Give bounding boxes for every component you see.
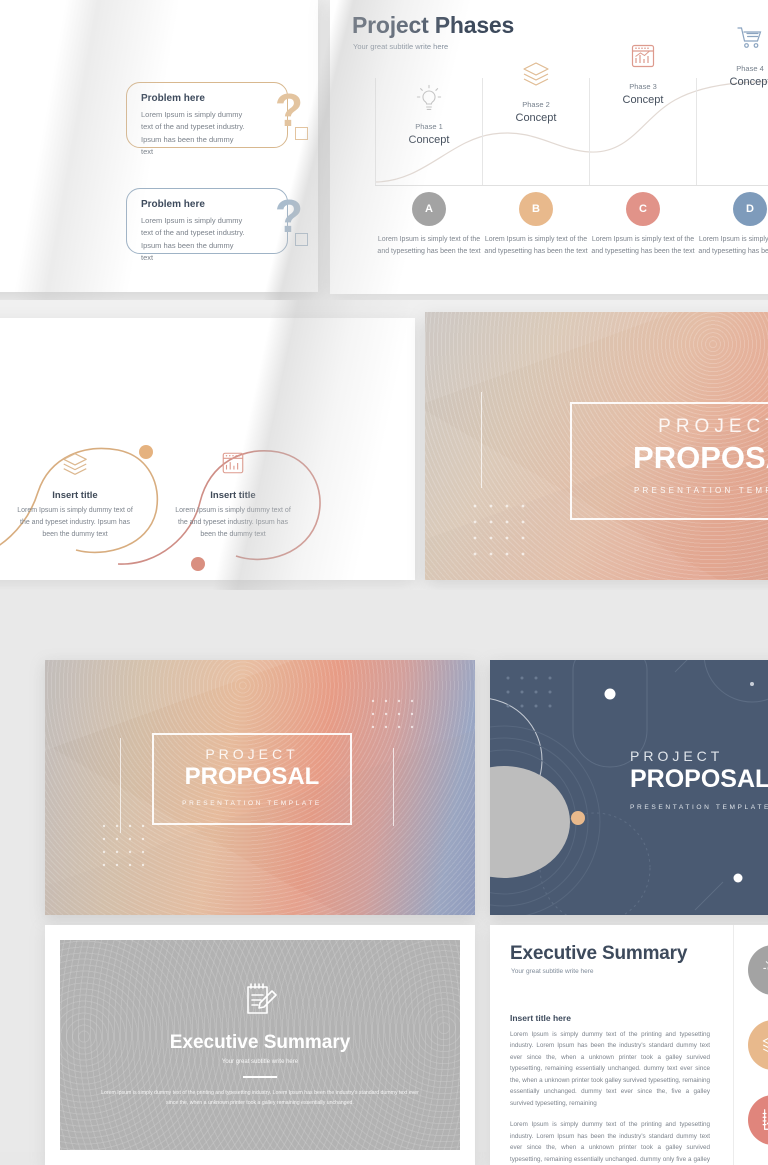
exec-light-rail-divider (733, 925, 734, 1165)
cover-accent-bar (481, 392, 482, 488)
slide-solution[interactable]: tion (0, 318, 415, 580)
question-mark-box-icon (295, 233, 308, 246)
exec-light-subtitle: Your great subtitle write here (511, 968, 594, 975)
problem-callout-1-body: Lorem Ipsum is simply dummy text of the … (141, 109, 247, 159)
phase-column-3[interactable]: Phase 3 Concept (589, 38, 697, 106)
exec-light-section-heading: Insert title here (510, 1013, 710, 1023)
cover-navy-textblock: PROJECT PROPOSAL PRESENTATION TEMPLATE (630, 748, 768, 811)
exec-light-title: Executive Summary (510, 943, 687, 965)
exec-gray-ring-texture (60, 940, 460, 1150)
exec-gray-panel: Executive Summary Your great subtitle wr… (60, 940, 460, 1150)
solution-step-2-title: Insert title (0, 490, 150, 501)
marker-d-badge: D (733, 192, 767, 226)
phase-4-name: Phase 4 (696, 64, 768, 73)
navy-dot-accent (571, 811, 585, 825)
phase-column-4[interactable]: Phase 4 Concept (696, 20, 768, 88)
cover-navy-line1: PROJECT (630, 748, 768, 764)
slide-exec-summary-light[interactable]: Executive Summary Your great subtitle wr… (490, 925, 768, 1165)
phase-4-concept: Concept (696, 76, 768, 88)
marker-a-badge: A (412, 192, 446, 226)
marker-c-badge: C (626, 192, 660, 226)
layers-icon (482, 60, 590, 100)
problem-callout-1-heading: Problem here (141, 93, 247, 104)
problem-callout-2-body: Lorem Ipsum is simply dummy text of the … (141, 215, 247, 265)
slide-project-phases[interactable]: Project Phases Your great subtitle write… (330, 0, 768, 294)
rail-chart-line-icon[interactable] (748, 1095, 768, 1145)
phase-2-concept: Concept (482, 112, 590, 124)
phase-1-concept: Concept (375, 134, 483, 146)
phase-1-name: Phase 1 (375, 122, 483, 131)
cover-navy-line3: PRESENTATION TEMPLATE (630, 804, 768, 811)
shopping-cart-icon (696, 24, 768, 64)
exec-light-paragraph-1: Lorem Ipsum is simply dummy text of the … (510, 1029, 710, 1109)
cover-accent-bar-right (393, 748, 394, 826)
phase-2-name: Phase 2 (482, 100, 590, 109)
cover-beige-line3: PRESENTATION TEMPLATE (572, 486, 768, 495)
chart-window-icon (589, 42, 697, 82)
layers-icon (0, 450, 150, 490)
rail-lightbulb-icon[interactable] (748, 945, 768, 995)
top-slide-band: m ! 01 02 03 04 Problem here Lorem Ipsum… (0, 0, 768, 300)
question-mark-icon: ? (275, 87, 303, 133)
cover-dot-grid-top (370, 698, 416, 738)
cover-navy-line2: PROPOSAL (630, 765, 768, 794)
phase-marker-a[interactable]: A Lorem Ipsum is simply text of the and … (375, 192, 483, 259)
notepad-pencil-icon (60, 980, 460, 1025)
cover-dot-grid (471, 502, 531, 560)
problem-callout-2-heading: Problem here (141, 199, 247, 210)
marker-c-caption: Lorem Ipsum is simply text of the and ty… (589, 234, 697, 259)
chart-window-icon (158, 450, 308, 490)
cover-gradient-line3: PRESENTATION TEMPLATE (154, 800, 350, 807)
lightbulb-icon (375, 82, 483, 122)
rail-layers-icon[interactable] (748, 1020, 768, 1070)
phases-title: Project Phases (352, 12, 514, 39)
slide-exec-summary-gray[interactable]: Executive Summary Your great subtitle wr… (45, 925, 475, 1165)
phase-3-concept: Concept (589, 94, 697, 106)
phase-marker-d[interactable]: D Lorem Ipsum is simply text of the and … (696, 192, 768, 259)
marker-d-caption: Lorem Ipsum is simply text of the and ty… (696, 234, 768, 259)
question-mark-icon: ? (275, 193, 303, 239)
marker-a-caption: Lorem Ipsum is simply text of the and ty… (375, 234, 483, 259)
question-mark-box-icon (295, 127, 308, 140)
cover-dot-grid-bottom (101, 823, 147, 875)
phase-column-2[interactable]: Phase 2 Concept (482, 56, 590, 124)
solution-step-3-body: Lorem Ipsum is simply dummy text of the … (158, 505, 308, 541)
phase-marker-b[interactable]: B Lorem Ipsum is simply text of the and … (482, 192, 590, 259)
cover-gradient-line1: PROJECT (154, 746, 350, 762)
slide-cover-gradient[interactable]: PROJECT PROPOSAL PRESENTATION TEMPLATE (45, 660, 475, 915)
flow-node-4 (191, 557, 205, 571)
cover-accent-bar-left (120, 738, 121, 833)
solution-step-3[interactable]: Insert title Lorem Ipsum is simply dummy… (158, 450, 308, 541)
exec-light-body: Insert title here Lorem Ipsum is simply … (510, 1013, 710, 1165)
solution-step-3-title: Insert title (158, 490, 308, 501)
cover-beige-line2: PROPOSAL (572, 440, 768, 476)
phase-column-1[interactable]: Phase 1 Concept (375, 78, 483, 146)
marker-b-badge: B (519, 192, 553, 226)
problem-callout-2[interactable]: Problem here Lorem Ipsum is simply dummy… (126, 188, 288, 254)
solution-step-2-body: Lorem Ipsum is simply dummy text of the … (0, 505, 150, 541)
solution-step-2[interactable]: Insert title Lorem Ipsum is simply dummy… (0, 450, 150, 541)
problem-callout-1[interactable]: Problem here Lorem Ipsum is simply dummy… (126, 82, 288, 148)
cover-beige-line1: PROJECT (572, 416, 768, 438)
solution-flow-diagram: Insert title Lorem Ipsum is simply dummy… (0, 406, 415, 576)
marker-b-caption: Lorem Ipsum is simply text of the and ty… (482, 234, 590, 259)
cover-gradient-line2: PROPOSAL (154, 763, 350, 791)
slide-cover-beige[interactable]: PROJECT PROPOSAL PRESENTATION TEMPLATE (425, 312, 768, 580)
phase-3-name: Phase 3 (589, 82, 697, 91)
cover-beige-textbox: PROJECT PROPOSAL PRESENTATION TEMPLATE (570, 402, 768, 520)
slide-problem[interactable]: m ! 01 02 03 04 Problem here Lorem Ipsum… (0, 0, 318, 292)
navy-dot-white-bottom (734, 874, 743, 883)
slide-cover-navy[interactable]: PROJECT PROPOSAL PRESENTATION TEMPLATE (490, 660, 768, 915)
cover-gradient-textbox: PROJECT PROPOSAL PRESENTATION TEMPLATE (152, 733, 352, 825)
phases-subtitle: Your great subtitle write here (353, 42, 448, 51)
navy-dot-white-top (605, 689, 616, 700)
middle-slide-band: tion (0, 300, 768, 590)
phases-chart: Phase 1 Concept Phase 2 Concept (375, 78, 768, 186)
phase-marker-c[interactable]: C Lorem Ipsum is simply text of the and … (589, 192, 697, 259)
exec-light-paragraph-2: Lorem Ipsum is simply dummy text of the … (510, 1119, 710, 1165)
